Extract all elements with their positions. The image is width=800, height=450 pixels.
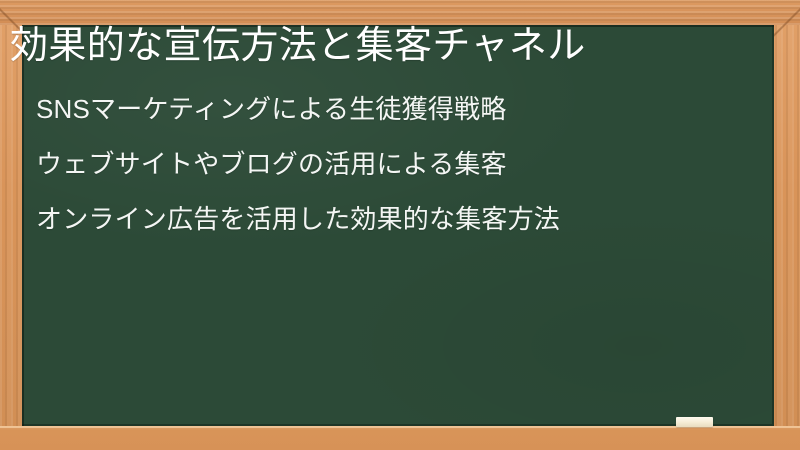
bullet-item: オンライン広告を活用した効果的な集客方法 — [36, 192, 560, 247]
slide-title: 効果的な宣伝方法と集客チャネル — [10, 14, 586, 69]
bullet-item: SNSマーケティングによる生徒獲得戦略 — [36, 82, 560, 137]
chalkboard-slide: 効果的な宣伝方法と集客チャネル SNSマーケティングによる生徒獲得戦略 ウェブサ… — [0, 0, 800, 450]
chalk-stick-icon — [676, 417, 713, 427]
chalk-ledge — [0, 426, 800, 450]
bullet-item: ウェブサイトやブログの活用による集客 — [36, 137, 560, 192]
bullet-list: SNSマーケティングによる生徒獲得戦略 ウェブサイトやブログの活用による集客 オ… — [36, 82, 560, 247]
